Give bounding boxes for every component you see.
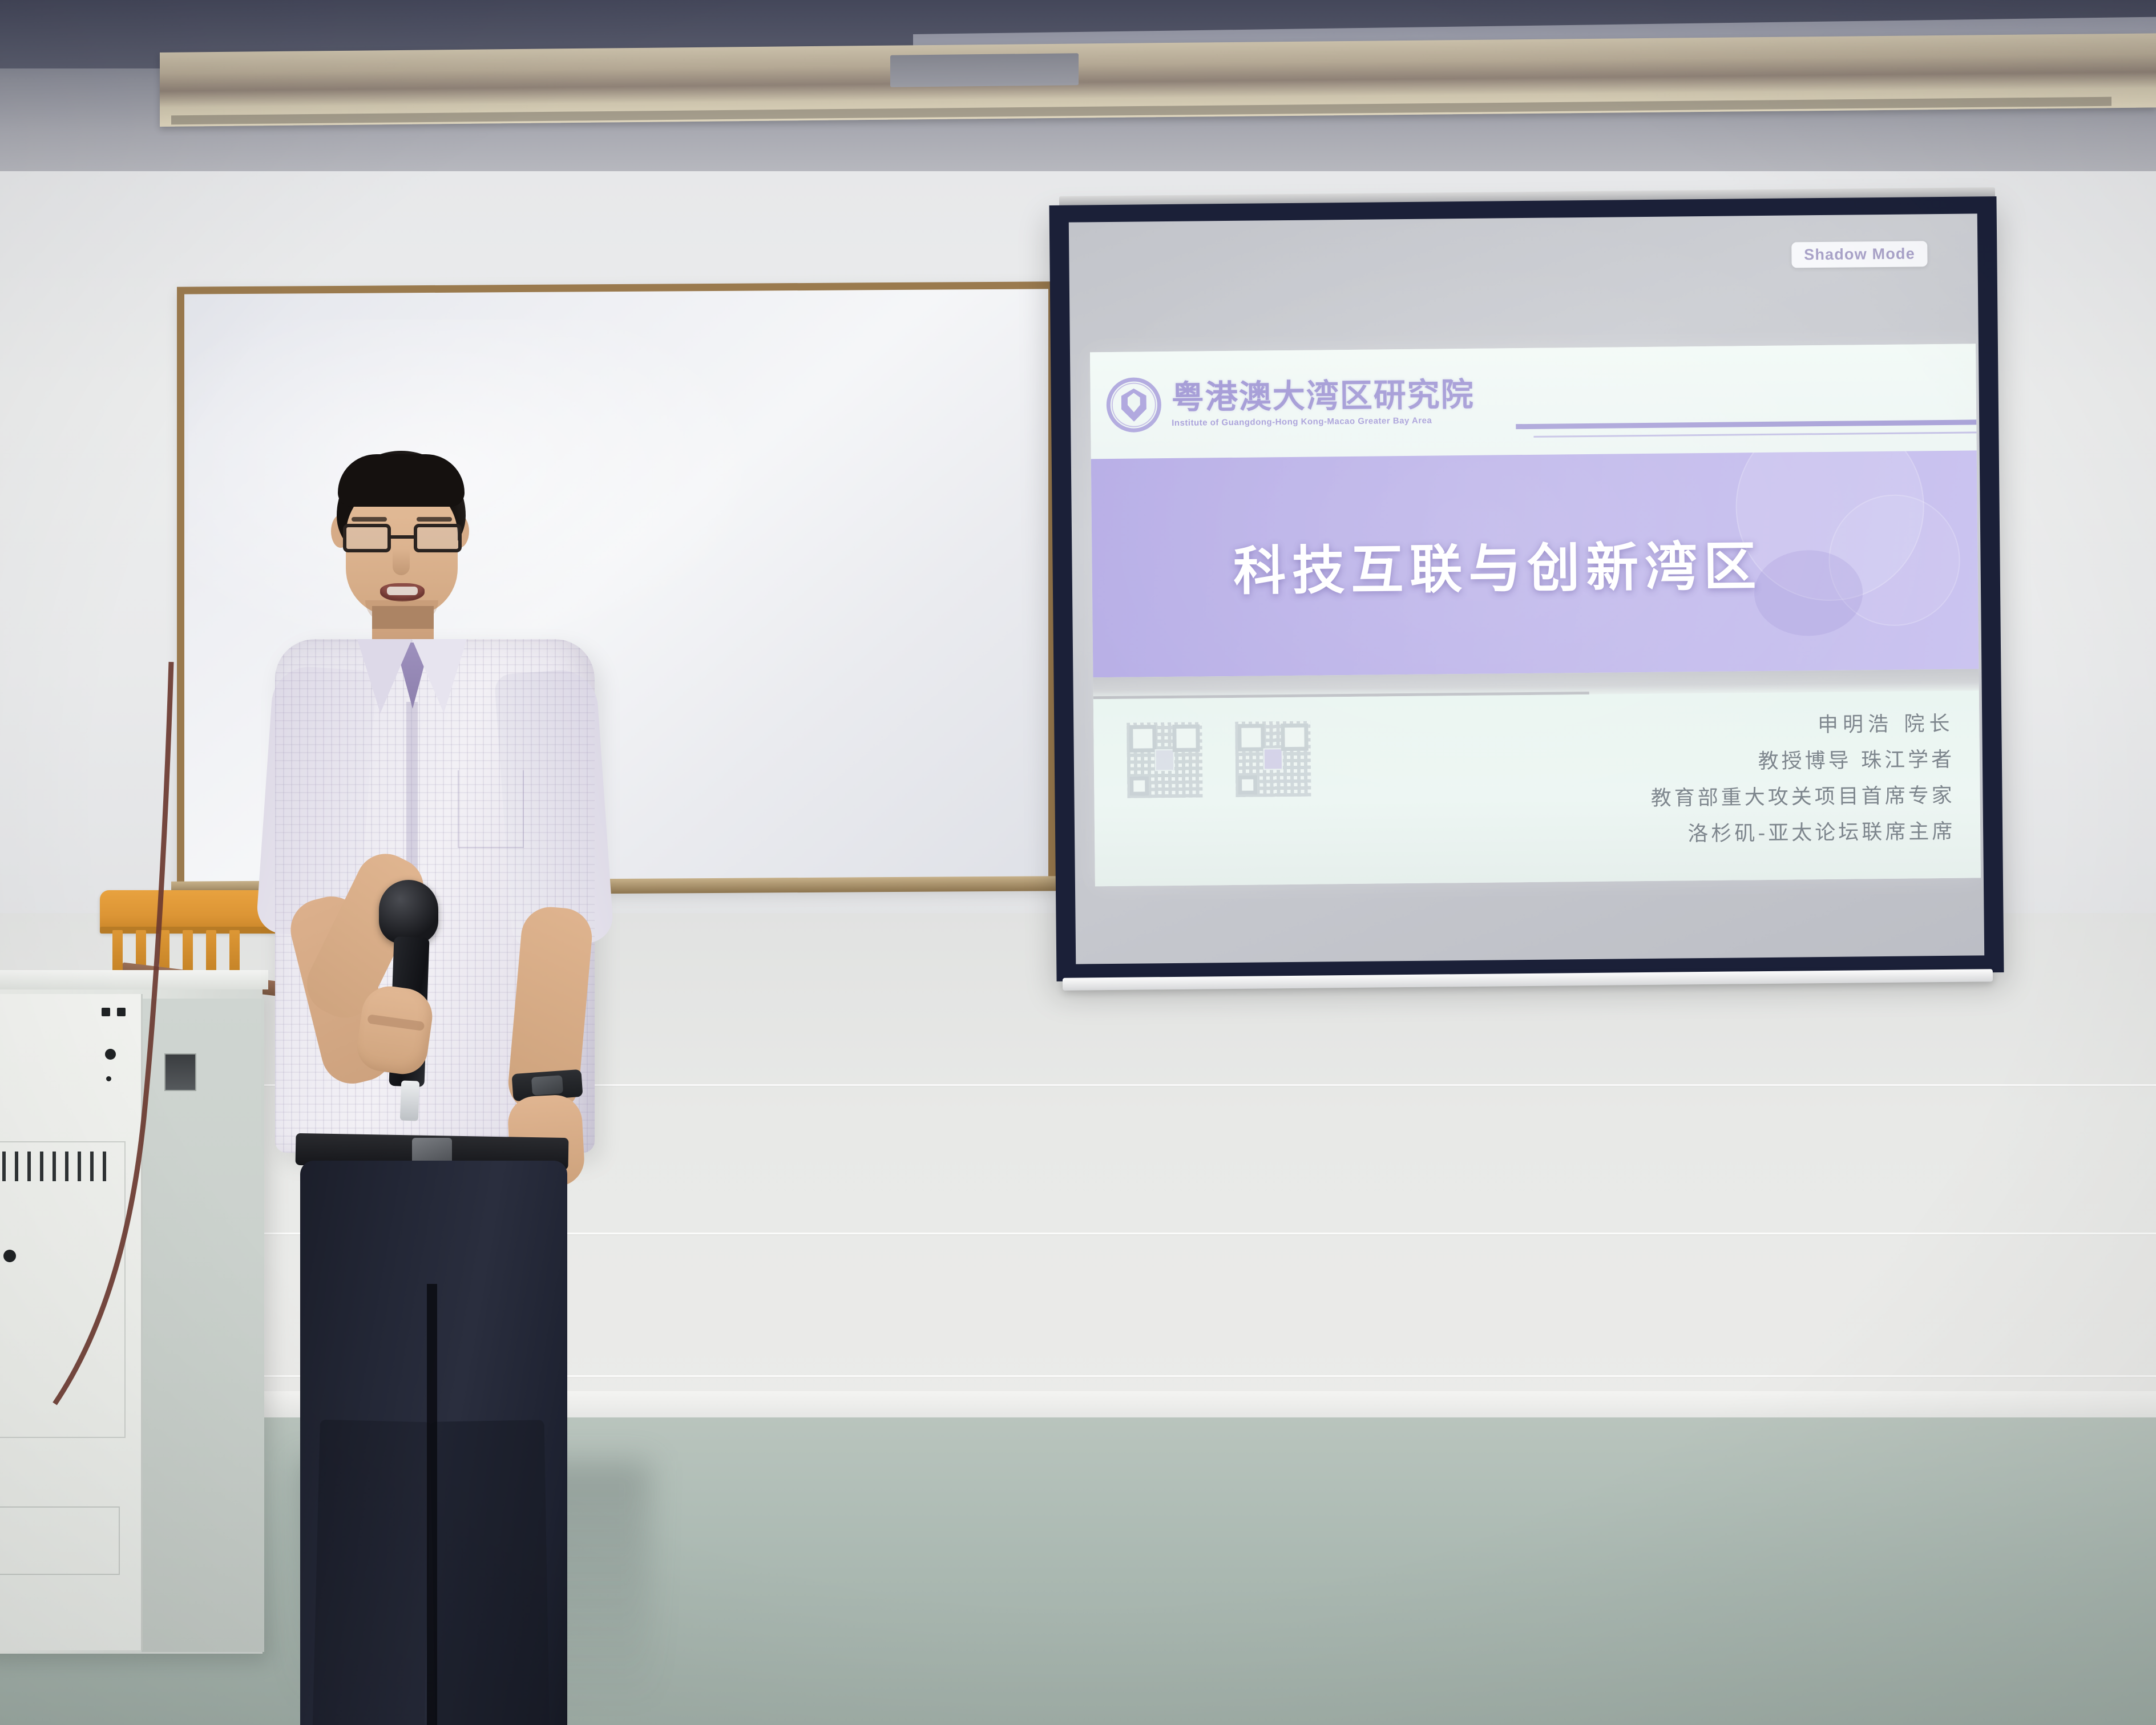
lectern-access-panel	[0, 1141, 126, 1438]
qr-finder-bottom-left	[1129, 776, 1149, 795]
eyebrow-right	[417, 517, 452, 522]
trouser-center-seam	[427, 1284, 437, 1725]
lectern-top	[0, 970, 268, 989]
neck-shadow	[372, 606, 434, 629]
decorative-circle	[1754, 550, 1863, 637]
microphone-connector	[400, 1080, 419, 1121]
shadow-mode-badge: Shadow Mode	[1791, 241, 1928, 268]
presentation-slide: 粤港澳大湾区研究院 Institute of Guangdong-Hong Ko…	[1090, 344, 1981, 886]
lectern-button[interactable]	[117, 1008, 126, 1016]
credit-line: 教授博导 珠江学者	[1650, 743, 1955, 775]
lens-left	[343, 524, 391, 552]
eyebrow-left	[352, 517, 387, 522]
speaker-credentials: 申明浩 院长 教授博导 珠江学者 教育部重大攻关项目首席专家 洛杉矶-亚太论坛联…	[1650, 706, 1957, 847]
slide-title-band: 科技互联与创新湾区	[1091, 450, 1979, 678]
hair-fringe	[338, 454, 465, 507]
qr-code-1	[1127, 722, 1202, 798]
institute-name-chinese: 粤港澳大湾区研究院	[1171, 378, 1475, 414]
header-rule-thin	[1534, 431, 1977, 437]
lens-right	[414, 524, 462, 552]
lectern-lock[interactable]	[3, 1250, 16, 1262]
slide-header: 粤港澳大湾区研究院 Institute of Guangdong-Hong Ko…	[1090, 344, 1977, 459]
lectern-indicator-light	[106, 1076, 111, 1081]
qr-code-2	[1235, 721, 1311, 797]
ceiling-vent	[890, 53, 1079, 87]
qr-finder-bottom-left	[1238, 775, 1257, 794]
shirt-pocket	[458, 770, 524, 848]
header-rule	[1516, 419, 1976, 429]
lectern-media-slot	[164, 1053, 196, 1091]
lectern-button[interactable]	[105, 1049, 116, 1060]
credit-line: 洛杉矶-亚太论坛联席主席	[1651, 815, 1955, 847]
lectern-door	[0, 1506, 120, 1575]
projector-screen: Shadow Mode 粤港澳大湾区研究院 Institute	[1049, 196, 2004, 981]
glasses-bridge	[391, 535, 414, 539]
qr-code-row	[1127, 721, 1311, 798]
credit-line: 教育部重大攻关项目首席专家	[1650, 779, 1955, 811]
slide-footer: 申明浩 院长 教授博导 珠江学者 教育部重大攻关项目首席专家 洛杉矶-亚太论坛联…	[1093, 690, 1981, 886]
credit-line: 申明浩 院长	[1650, 707, 1954, 740]
institute-name-english: Institute of Guangdong-Hong Kong-Macao G…	[1172, 415, 1475, 427]
lectern-vent	[0, 1152, 108, 1181]
qr-center-logo	[1155, 749, 1174, 771]
presenter	[245, 451, 622, 1649]
teeth	[387, 587, 418, 595]
leg-right	[430, 1420, 552, 1725]
lecture-hall-photo: Shadow Mode 粤港澳大湾区研究院 Institute	[0, 0, 2156, 1725]
institute-seal-icon	[1106, 377, 1161, 433]
screen-surface: Shadow Mode 粤港澳大湾区研究院 Institute	[1069, 213, 1984, 964]
institute-name-block: 粤港澳大湾区研究院 Institute of Guangdong-Hong Ko…	[1171, 378, 1475, 427]
microphone-head	[379, 880, 438, 944]
nose	[393, 549, 410, 575]
screen-border: Shadow Mode 粤港澳大湾区研究院 Institute	[1049, 196, 2004, 981]
leg-left	[310, 1420, 432, 1725]
qr-center-logo	[1263, 748, 1283, 770]
lectern-button[interactable]	[102, 1008, 110, 1016]
slide-title: 科技互联与创新湾区	[1233, 524, 1763, 605]
